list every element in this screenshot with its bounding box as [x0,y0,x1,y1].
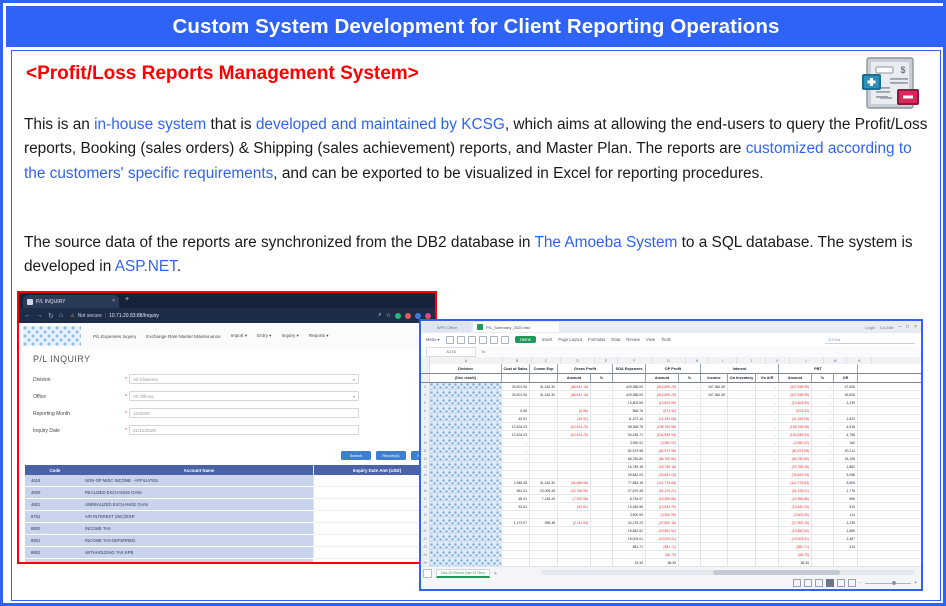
sheet-cell[interactable] [812,511,834,518]
sheet-cell[interactable] [728,527,756,534]
sheet-cell[interactable]: (347,538.99) [779,391,812,398]
sheet-cell[interactable]: 6.56 [502,407,530,414]
sheet-cell[interactable] [679,535,701,542]
sheet-cell[interactable]: (6.56) [558,407,591,414]
sheet-cell[interactable]: - [756,407,779,414]
sheet-cell[interactable]: (25,842.03) [646,471,679,478]
sheet-cell[interactable]: - [701,439,728,446]
sheet-cell[interactable]: - [756,447,779,454]
sheet-cell[interactable]: (52.61) [558,503,591,510]
sheet-cell[interactable] [502,559,530,566]
sheet-cell[interactable]: (108,769.98) [779,423,812,430]
sheet-cell[interactable] [728,487,756,494]
row-number[interactable]: 7 [421,415,430,422]
sheet-cell[interactable] [679,519,701,526]
horizontal-scrollbar[interactable] [541,570,915,575]
row-number[interactable]: 4 [421,391,430,398]
sheet-cell[interactable]: - [591,407,613,414]
bookmark-star-icon[interactable]: ☆ [386,312,391,319]
sheet-cell[interactable]: 1,685 [834,527,858,534]
row-number[interactable]: 9 [421,431,430,438]
sheet-cell[interactable]: 1,882 [834,463,858,470]
sheet-cell[interactable] [679,543,701,550]
sheet-cell[interactable]: (23,756.59) [558,487,591,494]
ribbon-tab-data[interactable]: Data [611,337,620,342]
sheet-data-row[interactable]: 16651.3123,005.45(23,756.59)27,670.45(51… [421,487,921,495]
sheet-data-row[interactable]: 2219,003.01(19,003.01)(19,003.01)2,467 [421,535,921,543]
sheet-cell[interactable]: (13,542.20) [646,503,679,510]
new-tab-icon[interactable]: + [125,296,129,303]
sheet-cell[interactable] [530,399,558,406]
sheet-cell[interactable] [701,471,728,478]
sheet-cell[interactable]: - [756,455,779,462]
sheet-cell[interactable]: - [679,391,701,398]
sheet-division-cell[interactable] [430,519,502,526]
sheet-cell[interactable]: (108,769.98) [646,423,679,430]
sheet-cell[interactable] [834,407,858,414]
sheet-cell[interactable] [728,519,756,526]
sheet-cell[interactable]: - [701,407,728,414]
sheet-cell[interactable] [756,519,779,526]
sheet-cell[interactable] [728,551,756,558]
sheet-cell[interactable]: - [530,447,558,454]
sheet-cell[interactable] [502,471,530,478]
sheet-division-cell[interactable] [430,383,502,390]
sheet-cell[interactable] [679,471,701,478]
sheet-cell[interactable]: 94,435.71 [613,431,646,438]
sheet-cell[interactable]: 1,776 [834,487,858,494]
view-readmode-icon[interactable] [815,579,823,587]
sheet-cell[interactable] [701,551,728,558]
sheet-cell[interactable] [756,487,779,494]
sheet-cell[interactable] [502,551,530,558]
sheet-cell[interactable] [679,511,701,518]
sheet-division-cell[interactable] [430,423,502,430]
sheet-cell[interactable]: 98,365.75 [613,423,646,430]
sheet-cell[interactable]: (11,153.08) [779,415,812,422]
sheet-cell[interactable]: 13,480.56 [613,503,646,510]
sheet-cell[interactable]: 31,140.30 [530,383,558,390]
sheet-data-row[interactable]: 11----82,573.98(82,573.98)----(82,573.98… [421,447,921,455]
sheet-cell[interactable]: - [679,399,701,406]
row-number[interactable]: 15 [421,479,430,486]
sheet-cell[interactable]: - [679,423,701,430]
sheet-cell[interactable]: - [728,447,756,454]
sheet-division-cell[interactable] [430,503,502,510]
sheet-cell[interactable]: - [558,439,591,446]
sheet-cell[interactable] [679,463,701,470]
sheet-cell[interactable]: - [679,415,701,422]
home-icon[interactable]: ⌂ [59,312,63,319]
nav-item-pl-expenses-inquiry[interactable]: P/L Expenses Inquiry [93,334,136,339]
sheet-division-cell[interactable] [430,511,502,518]
row-number[interactable]: 13 [421,463,430,470]
sheet-cell[interactable]: (13,803.59) [779,399,812,406]
sheet-cell[interactable] [679,551,701,558]
sheet-cell[interactable]: 313 [834,543,858,550]
close-tab-icon[interactable]: × [112,299,115,304]
sheet-cell[interactable]: 4,758 [834,431,858,438]
sheet-cell[interactable]: 1,173.07 [502,519,530,526]
row-number[interactable]: 22 [421,535,430,542]
sheet-cell[interactable]: - [728,423,756,430]
column-letter-header[interactable]: F [618,357,652,364]
sheet-cell[interactable]: - [812,455,834,462]
row-number[interactable]: 20 [421,519,430,526]
search-button[interactable]: Search [341,451,371,460]
sheet-cell[interactable]: 31,140.30 [530,391,558,398]
sheet-cell[interactable] [591,519,613,526]
sheet-cell[interactable]: 19,003.01 [613,535,646,542]
sheet-cell[interactable]: - [591,439,613,446]
print-icon[interactable] [479,336,487,344]
sheet-cell[interactable]: - [728,415,756,422]
sheet-division-cell[interactable] [430,543,502,550]
sheet-cell[interactable]: (104,839.94) [779,431,812,438]
sheet-cell[interactable]: (10,404.23) [558,431,591,438]
sheet-cell[interactable] [530,559,558,566]
sheet-cell[interactable] [701,511,728,518]
sheet-cell[interactable]: 38.39 [646,559,679,566]
sheet-cell[interactable]: 160 [834,439,858,446]
maximize-button[interactable]: □ [906,324,909,330]
sheet-cell[interactable]: 966 [834,495,858,502]
sheet-cell[interactable] [558,463,591,470]
sheet-cell[interactable] [502,463,530,470]
zoom-slider[interactable] [865,583,911,584]
sheet-cell[interactable] [728,479,756,486]
row-number[interactable]: 25 [421,559,430,566]
row-number[interactable]: 16 [421,487,430,494]
nav-item-import[interactable]: Import ▾ [231,333,248,339]
division-select[interactable]: All Divisions ▾ [129,374,359,384]
sheet-cell[interactable]: (15,955.86) [779,495,812,502]
sheet-cell[interactable]: - [701,455,728,462]
sheet-cell[interactable]: - [756,399,779,406]
zoom-slider-knob[interactable] [892,581,896,585]
sheet-cell[interactable]: 429,358.09 [613,383,646,390]
sheet-cell[interactable] [756,503,779,510]
sheet-cell[interactable]: 82,573.98 [613,447,646,454]
sheet-cell[interactable]: - [591,415,613,422]
sheet-cell[interactable]: - [591,431,613,438]
sheet-cell[interactable] [701,527,728,534]
sheet-cell[interactable]: - [591,383,613,390]
office-select[interactable]: All Offices ▾ [129,391,359,401]
nav-item-reports[interactable]: Reports ▾ [309,333,329,339]
sheet-division-cell[interactable] [430,415,502,422]
sheet-cell[interactable]: 23,005.45 [530,487,558,494]
sheet-cell[interactable] [591,535,613,542]
sheet-cell[interactable]: - [728,383,756,390]
column-letter-header[interactable]: E [595,357,618,364]
sheet-cell[interactable] [812,535,834,542]
sheet-cell[interactable] [812,559,834,566]
co-edit-label[interactable]: Co-Edit [880,325,893,330]
sheet-cell[interactable]: (51,376.21) [646,487,679,494]
view-normal-icon[interactable] [793,579,801,587]
sheet-cell[interactable] [591,471,613,478]
sheet-cell[interactable]: - [812,383,834,390]
sheet-cell[interactable] [591,559,613,566]
open-file-icon[interactable] [457,336,465,344]
sheet-cell[interactable] [812,527,834,534]
sheet-cell[interactable] [701,503,728,510]
profile-avatar[interactable] [425,313,431,319]
sheet-cell[interactable]: (82,573.98) [646,447,679,454]
sheet-cell[interactable] [728,511,756,518]
sheet-cell[interactable]: (10,404.23) [558,423,591,430]
sheet-cell[interactable]: 2,239 [834,399,858,406]
sheet-data-row[interactable]: 433,401.0631,140.30(66,541.16)-429,358.0… [421,391,921,399]
row-number[interactable]: 8 [421,423,430,430]
column-letter-header[interactable]: B [503,357,532,364]
row-number[interactable]: 21 [421,527,430,534]
sheet-cell[interactable]: - [756,383,779,390]
sheet-cell[interactable]: (27,800.15) [646,519,679,526]
sheet-cell[interactable] [558,535,591,542]
sheet-cell[interactable]: (51,376.21) [779,487,812,494]
sheet-cell[interactable]: - [613,551,646,558]
sheet-cell[interactable] [679,503,701,510]
sheet-cell[interactable] [701,559,728,566]
sheet-cell[interactable]: (13,803.59) [646,399,679,406]
sheet-cell[interactable] [756,559,779,566]
sheet-cell[interactable]: - [502,447,530,454]
sheet-cell[interactable]: (66,541.16) [558,383,591,390]
sheet-cell[interactable]: 24,278.23 [613,519,646,526]
sheet-cell[interactable]: - [756,391,779,398]
inquiry-date-input[interactable]: 31/12/2020 [129,425,359,435]
sheet-division-cell[interactable] [430,559,502,566]
sheet-cell[interactable] [591,543,613,550]
column-letter-header[interactable]: H [686,357,709,364]
sheet-division-cell[interactable] [430,439,502,446]
sheet-cell[interactable]: 8,754.57 [613,495,646,502]
sheet-cell[interactable] [812,479,834,486]
sheet-cell[interactable]: 2,235 [834,519,858,526]
sheet-cell[interactable]: (15,955.86) [646,495,679,502]
sheet-cell[interactable]: (66.79) [779,551,812,558]
sheet-cell[interactable]: 27,670.45 [613,487,646,494]
column-letter-header[interactable]: L [790,357,824,364]
sheet-cell[interactable]: 13,803.59 [613,399,646,406]
sheet-cell[interactable] [591,479,613,486]
row-number[interactable]: 5 [421,399,430,406]
sheet-cell[interactable] [834,559,858,566]
sheet-cell[interactable] [530,463,558,470]
horizontal-scrollbar-thumb[interactable] [713,570,840,575]
sheet-cell[interactable]: 881.71 [613,543,646,550]
table-row[interactable]: 8751A/R INTEREST (INC)/EXP [25,511,313,523]
zoom-icon[interactable]: ⌕ [378,312,381,319]
sheet-cell[interactable]: - [679,447,701,454]
sheet-cell[interactable] [756,543,779,550]
sheet-cell[interactable]: (66.79) [646,551,679,558]
sheet-cell[interactable]: (19,003.01) [646,535,679,542]
sheet-cell[interactable] [530,535,558,542]
sheet-cell[interactable]: 31,140.30 [530,479,558,486]
sheet-data-row[interactable]: 23881.71(881.71)(881.71)313 [421,543,921,551]
sheet-cell[interactable] [558,559,591,566]
sheet-data-row[interactable]: 1315,789.18(15,789.18)(15,789.18)1,882 [421,463,921,471]
browser-tab[interactable]: P/L INQUIRY × [23,295,119,308]
sheet-cell[interactable] [701,535,728,542]
sheet-cell[interactable]: 15,789.18 [613,463,646,470]
sheet-cell[interactable] [558,471,591,478]
zoom-in-icon[interactable]: + [914,581,917,586]
sheet-data-row[interactable]: 66.56-(6.56)-866.76(873.32)----(873.32)- [421,407,921,415]
address-input[interactable]: ⚠ Not secure | 10.71.20.83:88/Inquiry [70,311,378,321]
column-letter-header[interactable]: M [824,357,847,364]
reload-icon[interactable]: ↻ [48,312,54,320]
sheet-cell[interactable]: - [591,455,613,462]
sheet-cell[interactable]: (15,789.18) [779,463,812,470]
sheet-cell[interactable] [558,543,591,550]
minimize-button[interactable]: – [898,324,901,330]
sheet-cell[interactable] [728,543,756,550]
row-number[interactable]: 10 [421,439,430,446]
sheet-cell[interactable]: 18,108 [834,455,858,462]
sheet-cell[interactable]: 167,360.26 [701,383,728,390]
sheet-cell[interactable] [591,551,613,558]
sheet-cell[interactable]: 52.61 [502,503,530,510]
table-row[interactable]: 8801INCOME TAX-DEFERRED [25,535,313,547]
sheet-cell[interactable] [558,399,591,406]
ribbon-tab-tools[interactable]: Tools [661,337,671,342]
sheet-cell[interactable]: (11,153.08) [646,415,679,422]
sheet-cell[interactable] [591,495,613,502]
sheet-cell[interactable] [502,511,530,518]
sheet-cell[interactable]: 7,135.49 [530,495,558,502]
sheet-cell[interactable]: (82,573.98) [779,447,812,454]
sheet-cell[interactable]: 5,058 [834,471,858,478]
sheet-cell[interactable] [591,487,613,494]
sheet-cell[interactable]: 10,404.23 [502,423,530,430]
sheet-cell[interactable]: (13,542.20) [779,503,812,510]
sheet-cell[interactable] [812,519,834,526]
sheet-cell[interactable]: 45,528 [834,391,858,398]
sheet-division-cell[interactable] [430,495,502,502]
sheet-data-row[interactable]: 1425,842.03(25,842.03)(25,842.03)5,058 [421,471,921,479]
row-number[interactable]: 6 [421,407,430,414]
sheet-cell[interactable]: (514,899.25) [646,383,679,390]
sheet-cell[interactable]: - [701,415,728,422]
sheet-cell[interactable]: (881.71) [646,543,679,550]
undo-icon[interactable] [490,336,498,344]
sheet-cell[interactable]: - [558,447,591,454]
sheet-cell[interactable]: - [728,455,756,462]
sheet-cell[interactable]: 114 [834,511,858,518]
sheet-cell[interactable]: 20,212 [834,447,858,454]
sheet-cell[interactable] [701,463,728,470]
sheet-cell[interactable]: - [756,439,779,446]
close-button[interactable]: × [914,324,917,330]
sheet-cell[interactable]: - [530,455,558,462]
sheet-cell[interactable]: (111,778.83) [779,479,812,486]
sheet-cell[interactable]: 25,842.03 [613,471,646,478]
sheet-cell[interactable]: 38.39 [779,559,812,566]
sheet-cell[interactable]: 33,401.06 [502,391,530,398]
sheet-cell[interactable]: 3,950.02 [613,439,646,446]
sheet-cell[interactable]: 2,948.35 [502,479,530,486]
sheet-cell[interactable] [756,527,779,534]
sheet-cell[interactable] [679,559,701,566]
sheet-cell[interactable]: (3,500.99) [646,511,679,518]
ribbon-tab-formulas[interactable]: Formulas [588,337,605,342]
nav-item-inquiry[interactable]: Inquiry ▾ [281,333,298,339]
column-letter-header[interactable]: D [561,357,595,364]
sheet-cell[interactable] [756,511,779,518]
ribbon-tab-insert[interactable]: Insert [542,337,552,342]
sheet-cell[interactable]: - [728,431,756,438]
sheet-cell[interactable]: - [530,439,558,446]
sheet-division-cell[interactable] [430,471,502,478]
search-input[interactable]: Q Find [825,336,915,344]
reporting-month-input[interactable]: 12/2020 [129,408,359,418]
sheet-cell[interactable] [701,495,728,502]
sheet-cell[interactable]: 651.31 [502,487,530,494]
sheet-cell[interactable]: - [530,423,558,430]
back-icon[interactable]: ← [24,312,31,319]
view-settings-icon[interactable] [848,579,856,587]
sheet-data-row[interactable]: 910,404.23-(10,404.23)-94,435.71(104,839… [421,431,921,439]
sheet-cell[interactable] [756,495,779,502]
sheet-cell[interactable] [812,463,834,470]
sheet-cell[interactable]: (66,780.80) [779,455,812,462]
sheet-cell[interactable]: 47,628 [834,383,858,390]
sheet-division-cell[interactable] [430,487,502,494]
sheet-cell[interactable]: (347,538.99) [779,383,812,390]
sheet-cell[interactable] [530,527,558,534]
sheet-cell[interactable] [591,511,613,518]
extension-icon-2[interactable] [405,313,411,319]
sheet-cell[interactable] [591,463,613,470]
table-row[interactable]: 8800INCOME TAX [25,523,313,535]
column-letter-header[interactable]: C [532,357,561,364]
sheet-cell[interactable] [728,495,756,502]
sheet-cell[interactable]: (3,500.99) [779,511,812,518]
sheet-data-row[interactable]: 10----3,950.02(3,950.02)----(3,950.02)-1… [421,439,921,447]
sheet-division-cell[interactable] [430,455,502,462]
sheet-cell[interactable]: - [679,439,701,446]
sheet-cell[interactable] [502,535,530,542]
sheet-cell[interactable]: - [728,399,756,406]
sheet-cell[interactable]: 33,401.06 [502,383,530,390]
sheet-cell[interactable]: (34,088.65) [558,479,591,486]
sheet-cell[interactable]: (873.32) [646,407,679,414]
sheet-division-cell[interactable] [430,535,502,542]
sheet-cell[interactable]: 45.91 [502,415,530,422]
sheet-cell[interactable]: (881.71) [779,543,812,550]
sheet-cell[interactable] [701,543,728,550]
sheet-cell[interactable]: 66,780.80 [613,455,646,462]
sheet-cell[interactable] [728,503,756,510]
sheet-cell[interactable]: 3,500.99 [613,511,646,518]
table-row[interactable]: 8600INTEREST INCOME - BANKS [25,559,313,562]
sheet-cell[interactable] [591,527,613,534]
sheet-cell[interactable] [679,479,701,486]
sheet-division-cell[interactable] [430,463,502,470]
table-row[interactable]: 4601UNREALIZED EXCHANGE GAIN [25,499,313,511]
column-letter-header[interactable]: G [652,357,686,364]
sheet-cell[interactable]: (7,200.95) [558,495,591,502]
sheet-data-row[interactable]: 5-13,803.59(13,803.59)---(13,803.59)-2,2… [421,399,921,407]
sheet-cell[interactable] [834,551,858,558]
column-letter-header[interactable]: I [709,357,737,364]
sheet-cell[interactable]: - [591,391,613,398]
sheet-cell[interactable]: (514,899.25) [646,391,679,398]
